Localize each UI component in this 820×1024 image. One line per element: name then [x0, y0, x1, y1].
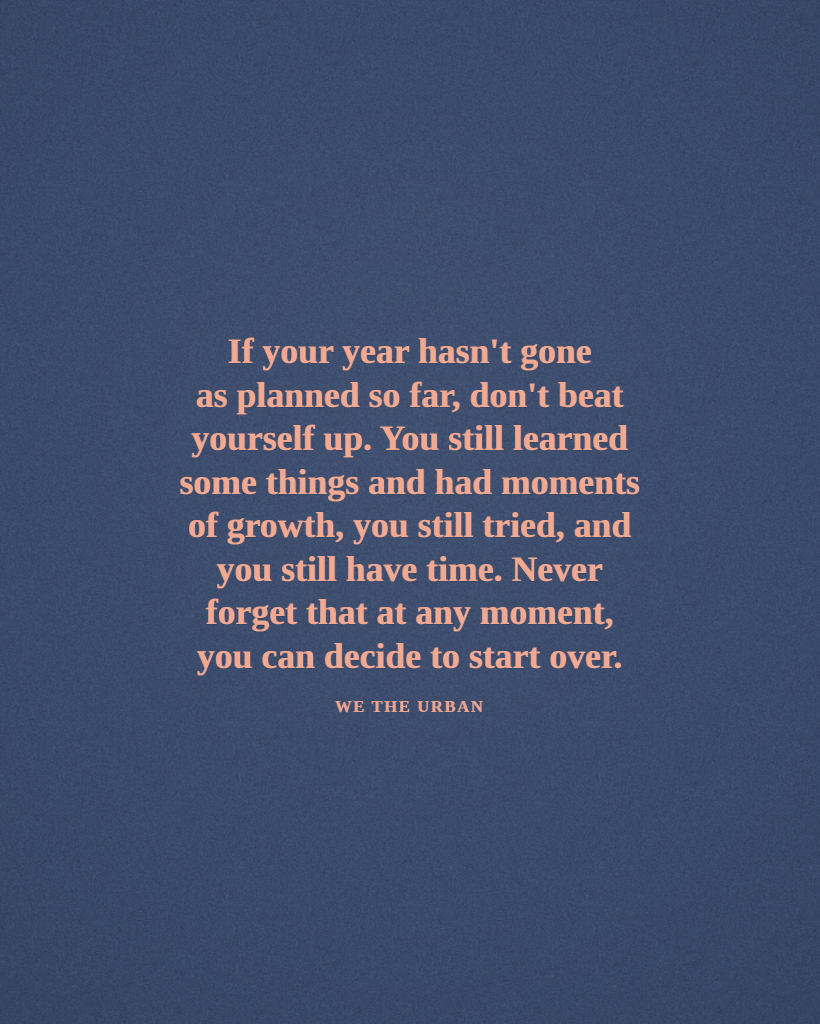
quote-line: some things and had moments: [100, 461, 720, 505]
quote-line: forget that at any moment,: [100, 591, 720, 635]
quote-line: you still have time. Never: [100, 548, 720, 592]
attribution-label: WE THE URBAN: [335, 697, 484, 717]
poster-content: If your year hasn't gone as planned so f…: [0, 330, 820, 717]
quote-line: you can decide to start over.: [100, 635, 720, 679]
quote-line: of growth, you still tried, and: [100, 504, 720, 548]
quote-line: yourself up. You still learned: [100, 417, 720, 461]
quote-poster: If your year hasn't gone as planned so f…: [0, 0, 820, 1024]
quote-text: If your year hasn't gone as planned so f…: [100, 330, 720, 678]
quote-line: If your year hasn't gone: [100, 330, 720, 374]
quote-line: as planned so far, don't beat: [100, 374, 720, 418]
